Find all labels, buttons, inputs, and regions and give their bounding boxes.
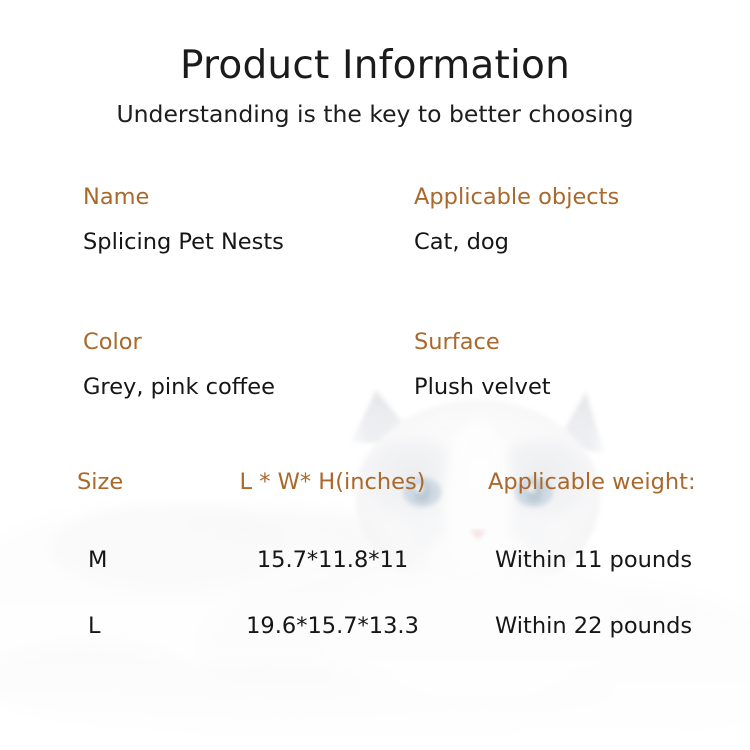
spec-label-name: Name bbox=[83, 185, 284, 211]
header: Product Information Understanding is the… bbox=[0, 0, 750, 128]
spec-value-name: Splicing Pet Nests bbox=[83, 230, 284, 256]
size-header-weight: Applicable weight: bbox=[488, 470, 696, 496]
size-cell-dimensions: 15.7*11.8*11 bbox=[225, 548, 440, 574]
table-row: L 19.6*15.7*13.3 Within 22 pounds bbox=[0, 614, 750, 680]
size-cell-size: M bbox=[88, 548, 107, 574]
spec-value-color: Grey, pink coffee bbox=[83, 375, 275, 401]
page-subtitle: Understanding is the key to better choos… bbox=[0, 88, 750, 128]
size-header-size: Size bbox=[77, 470, 123, 496]
size-cell-dimensions: 19.6*15.7*13.3 bbox=[225, 614, 440, 640]
spec-label-color: Color bbox=[83, 330, 275, 356]
size-table: Size L * W* H(inches) Applicable weight:… bbox=[0, 470, 750, 680]
table-row: M 15.7*11.8*11 Within 11 pounds bbox=[0, 548, 750, 614]
spec-item-applicable-objects: Applicable objects Cat, dog bbox=[414, 185, 619, 256]
size-table-header-row: Size L * W* H(inches) Applicable weight: bbox=[0, 470, 750, 548]
spec-label-applicable-objects: Applicable objects bbox=[414, 185, 619, 211]
product-information-page: Product Information Understanding is the… bbox=[0, 0, 750, 750]
size-cell-size: L bbox=[88, 614, 101, 640]
size-cell-weight: Within 22 pounds bbox=[495, 614, 692, 640]
spec-item-color: Color Grey, pink coffee bbox=[83, 330, 275, 401]
spec-value-surface: Plush velvet bbox=[414, 375, 551, 401]
spec-value-applicable-objects: Cat, dog bbox=[414, 230, 619, 256]
spec-item-name: Name Splicing Pet Nests bbox=[83, 185, 284, 256]
size-header-dimensions: L * W* H(inches) bbox=[225, 470, 440, 496]
page-title: Product Information bbox=[0, 0, 750, 88]
spec-label-surface: Surface bbox=[414, 330, 551, 356]
spec-item-surface: Surface Plush velvet bbox=[414, 330, 551, 401]
size-cell-weight: Within 11 pounds bbox=[495, 548, 692, 574]
